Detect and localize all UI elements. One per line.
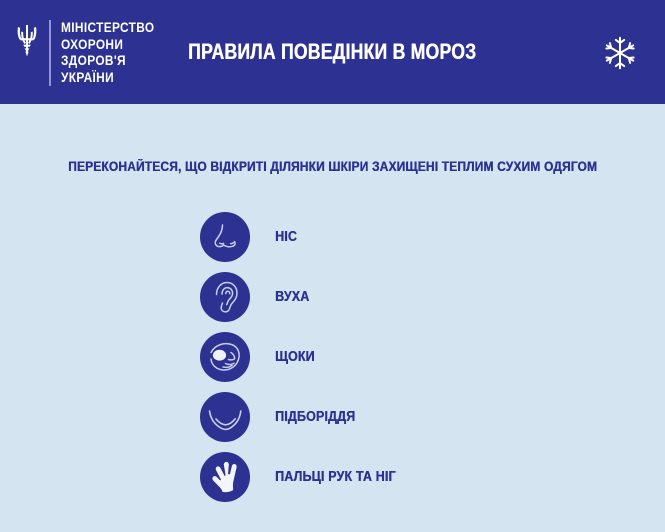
- brand-line: ОХОРОНИ: [61, 37, 154, 54]
- list-item: ПІДБОРІДДЯ: [200, 392, 630, 442]
- hand-palm-icon: [200, 452, 250, 502]
- list-item-label: ПІДБОРІДДЯ: [275, 409, 355, 425]
- cheeks-face-icon: [200, 332, 250, 382]
- ministry-name: МІНІСТЕРСТВО ОХОРОНИ ЗДОРОВ'Я УКРАЇНИ: [61, 20, 167, 86]
- list-item: ПАЛЬЦІ РУК ТА НІГ: [200, 452, 630, 502]
- subtitle-text: ПЕРЕКОНАЙТЕСЯ, ЩО ВІДКРИТІ ДІЛЯНКИ ШКІРИ…: [68, 159, 597, 174]
- chin-icon: [200, 392, 250, 442]
- list-item: ЩОКИ: [200, 332, 630, 382]
- ear-icon: [200, 272, 250, 322]
- nose-icon: [200, 212, 250, 262]
- ukraine-trident-emblem-icon: [14, 22, 40, 60]
- subtitle: ПЕРЕКОНАЙТЕСЯ, ЩО ВІДКРИТІ ДІЛЯНКИ ШКІРИ…: [0, 158, 665, 176]
- header-bar: МІНІСТЕРСТВО ОХОРОНИ ЗДОРОВ'Я УКРАЇНИ ПР…: [0, 0, 665, 104]
- brand-line: ЗДОРОВ'Я: [61, 53, 154, 70]
- infographic-poster: МІНІСТЕРСТВО ОХОРОНИ ЗДОРОВ'Я УКРАЇНИ ПР…: [0, 0, 665, 532]
- page-title-text: ПРАВИЛА ПОВЕДІНКИ В МОРОЗ: [188, 39, 476, 65]
- list-item-label: ВУХА: [275, 289, 309, 305]
- body-parts-list: НІС ВУХА: [200, 212, 630, 512]
- ministry-brand: МІНІСТЕРСТВО ОХОРОНИ ЗДОРОВ'Я УКРАЇНИ: [14, 20, 167, 86]
- list-item-label: НІС: [275, 229, 297, 245]
- list-item: ВУХА: [200, 272, 630, 322]
- brand-line: УКРАЇНИ: [61, 70, 154, 87]
- brand-divider: [49, 20, 51, 86]
- list-item: НІС: [200, 212, 630, 262]
- list-item-label: ПАЛЬЦІ РУК ТА НІГ: [275, 469, 396, 485]
- list-item-label: ЩОКИ: [275, 349, 315, 365]
- snowflake-icon: [601, 34, 639, 72]
- brand-line: МІНІСТЕРСТВО: [61, 20, 154, 37]
